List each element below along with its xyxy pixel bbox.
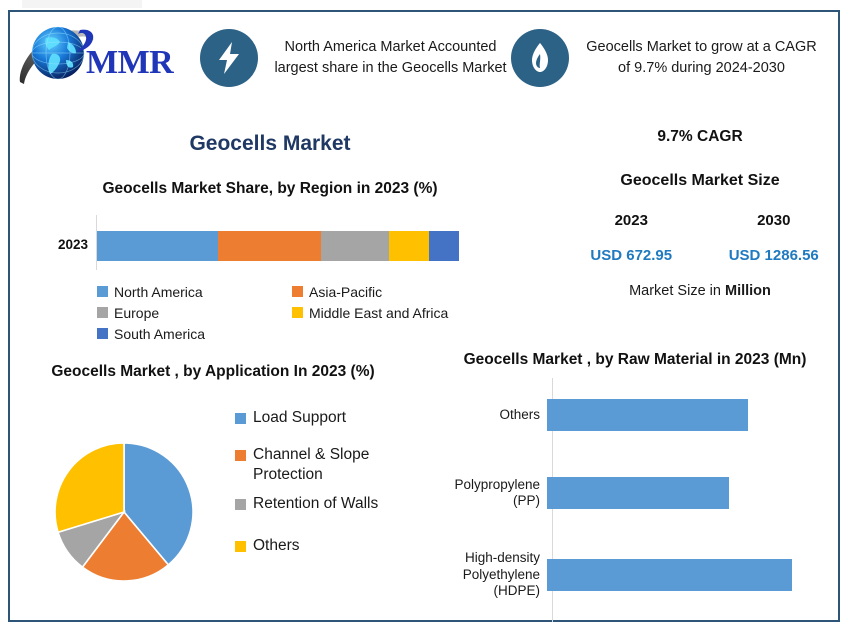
raw-material-track [546,538,830,612]
region-share-legend: North America Asia-Pacific Europe Middle… [97,281,497,344]
legend-label: Load Support [253,408,346,427]
legend-label: North America [114,284,203,300]
brand-logo[interactable]: MMR [10,18,200,98]
market-size-footnote-unit: Million [725,283,771,299]
legend-label: South America [114,326,205,342]
application-chart-title: Geocells Market , by Application In 2023… [18,362,408,382]
legend-label: Channel & Slope Protection [253,445,440,484]
legend-item-middle-east-africa[interactable]: Middle East and Africa [292,302,492,323]
raw-material-label: Others [430,407,546,423]
raw-material-row-others: Others [430,378,830,452]
legend-item-asia-pacific[interactable]: Asia-Pacific [292,281,492,302]
raw-material-track [546,456,830,530]
header-highlight-1-text: North America Market Accounted largest s… [270,37,511,78]
legend-swatch-icon [235,499,246,510]
legend-swatch-icon [235,541,246,552]
legend-label: Retention of Walls [253,494,378,513]
region-share-segment-asia-pacific[interactable] [218,231,321,261]
raw-material-chart: Others Polypropylene (PP) High-density P… [430,378,830,622]
raw-material-chart-title: Geocells Market , by Raw Material in 202… [455,350,815,370]
application-pie-chart [52,440,196,589]
raw-material-bar-polypropylene[interactable] [547,477,729,509]
legend-swatch-icon [97,328,108,339]
lightning-bolt-badge [200,29,258,87]
flame-droplet-badge [511,29,569,87]
legend-item-load-support[interactable]: Load Support [235,408,440,427]
region-share-chart: 2023 [30,215,500,275]
raw-material-label: High-density Polyethylene (HDPE) [430,550,546,599]
market-size-year-base: 2023 [560,212,703,229]
legend-label: Europe [114,305,159,321]
raw-material-bar-others[interactable] [547,399,748,431]
region-share-segment-europe[interactable] [321,231,389,261]
lightning-bolt-icon [216,41,242,75]
header-highlight-2-text: Geocells Market to grow at a CAGR of 9.7… [581,37,822,78]
header: MMR North America Market Accounted large… [10,12,822,104]
flame-droplet-icon [528,42,552,74]
region-share-segment-middle-east-africa[interactable] [389,231,429,261]
legend-swatch-icon [97,286,108,297]
region-share-segment-north-america[interactable] [97,231,218,261]
region-share-chart-title: Geocells Market Share, by Region in 2023… [20,180,520,198]
header-highlight-1: North America Market Accounted largest s… [200,29,511,87]
raw-material-label: Polypropylene (PP) [430,477,546,510]
market-size-footnote: Market Size in Million [560,283,840,299]
legend-swatch-icon [235,413,246,424]
market-size-years: 2023 2030 [560,212,845,229]
raw-material-bar-hdpe[interactable] [547,559,792,591]
market-size-value-base: USD 672.95 [560,247,703,264]
top-edge-artifact [22,0,142,8]
cagr-value: 9.7% CAGR [560,128,840,146]
legend-item-others[interactable]: Others [235,536,440,555]
legend-swatch-icon [235,450,246,461]
market-size-value-forecast: USD 1286.56 [703,247,846,264]
infographic-root: MMR North America Market Accounted large… [0,0,850,630]
header-highlight-2: Geocells Market to grow at a CAGR of 9.7… [511,29,822,87]
market-size-year-forecast: 2030 [703,212,846,229]
region-share-stacked-bar [97,231,459,261]
raw-material-track [546,378,830,452]
legend-item-retention-of-walls[interactable]: Retention of Walls [235,494,440,513]
raw-material-row-hdpe: High-density Polyethylene (HDPE) [430,538,830,612]
legend-label: Others [253,536,300,555]
market-size-values: USD 672.95 USD 1286.56 [560,247,845,264]
legend-item-south-america[interactable]: South America [97,323,292,344]
region-share-segment-south-america[interactable] [429,231,459,261]
legend-item-channel-slope-protection[interactable]: Channel & Slope Protection [235,445,440,484]
legend-item-north-america[interactable]: North America [97,281,292,302]
legend-swatch-icon [292,286,303,297]
market-size-footnote-prefix: Market Size in [629,283,725,299]
legend-swatch-icon [97,307,108,318]
legend-label: Asia-Pacific [309,284,382,300]
application-pie-legend: Load Support Channel & Slope Protection … [235,408,440,555]
legend-label: Middle East and Africa [309,305,448,321]
brand-logo-text: MMR [86,44,173,82]
legend-item-europe[interactable]: Europe [97,302,292,323]
region-share-category-label: 2023 [30,237,88,252]
raw-material-row-polypropylene: Polypropylene (PP) [430,456,830,530]
market-size-title: Geocells Market Size [560,172,840,190]
legend-swatch-icon [292,307,303,318]
page-title: Geocells Market [10,132,530,156]
